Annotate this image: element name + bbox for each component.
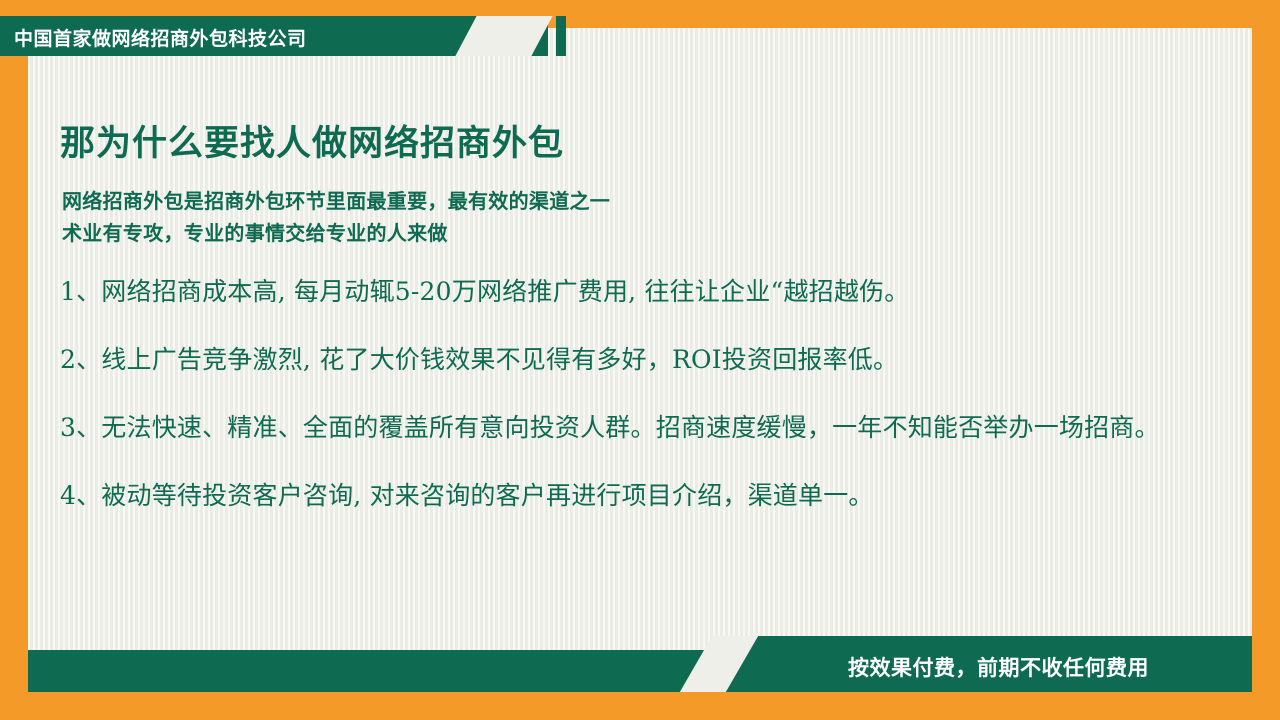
subheading-line-2: 术业有专攻，专业的事情交给专业的人来做: [62, 218, 610, 250]
footer-text: 按效果付费，前期不收任何费用: [848, 652, 1149, 682]
headline: 那为什么要找人做网络招商外包: [60, 115, 564, 166]
list-item: 2、线上广告竞争激烈, 花了大价钱效果不见得有多好，ROI投资回报率低。: [60, 340, 1195, 380]
subheading-line-1: 网络招商外包是招商外包环节里面最重要，最有效的渠道之一: [62, 186, 610, 218]
body-list: 1、网络招商成本高, 每月动辄5-20万网络推广费用, 往往让企业“越招越伤。 …: [60, 272, 1195, 544]
top-banner-label: 中国首家做网络招商外包科技公司: [14, 24, 307, 51]
list-item: 1、网络招商成本高, 每月动辄5-20万网络推广费用, 往往让企业“越招越伤。: [60, 272, 1195, 312]
list-item: 4、被动等待投资客户咨询, 对来咨询的客户再进行项目介绍，渠道单一。: [60, 476, 1195, 516]
list-item: 3、无法快速、精准、全面的覆盖所有意向投资人群。招商速度缓慢，一年不知能否举办一…: [60, 408, 1195, 448]
footer-left-block: [28, 650, 728, 692]
banner-notch-2: [556, 16, 566, 56]
top-banner: 中国首家做网络招商外包科技公司: [0, 16, 518, 56]
footer-bar: 按效果付费，前期不收任何费用: [28, 636, 1252, 692]
slide: 中国首家做网络招商外包科技公司 那为什么要找人做网络招商外包 网络招商外包是招商…: [0, 0, 1280, 720]
subheadings: 网络招商外包是招商外包环节里面最重要，最有效的渠道之一 术业有专攻，专业的事情交…: [62, 186, 610, 250]
